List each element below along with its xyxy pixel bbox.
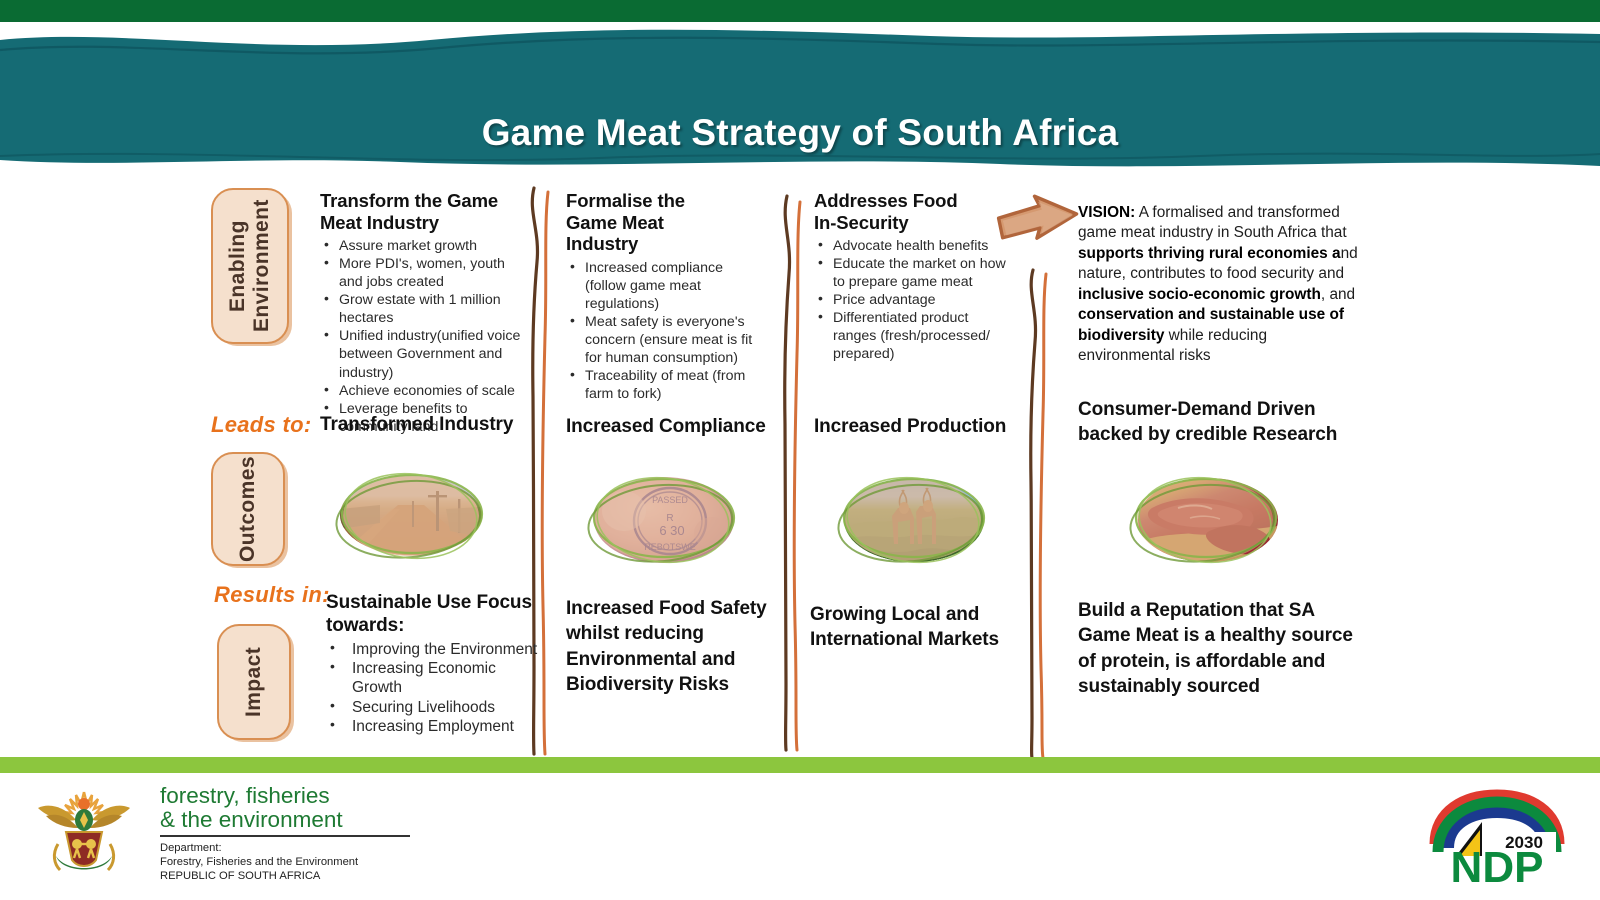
ndp-logo: 2030 NDP [1412,782,1582,886]
dffe-line1: forestry, fisheries [160,784,410,808]
row-label-outcomes: Outcomes [211,452,285,566]
row-label-enabling-environment: EnablingEnvironment [211,188,289,344]
column-food-security-impact: Growing Local and International Markets [810,602,1025,653]
column-formalise-heading: Formalise theGame MeatIndustry [566,190,766,255]
vision-statement: VISION: A formalised and transformed gam… [1078,203,1358,367]
vision-label: VISION: [1078,204,1135,221]
list-item: Improving the Environment [326,640,541,659]
divider-col3-col4 [1022,268,1056,760]
dffe-wordmark: forestry, fisheries & the environment De… [160,784,410,883]
row-label-outcomes-text: Outcomes [213,454,283,564]
column-transform-impact-heading: Sustainable Use Focus towards: [326,592,541,638]
footer-green-bar [0,757,1600,773]
vision-part-4: , and [1321,286,1355,303]
list-item: Advocate health benefits [814,237,1009,255]
column-food-security-outcome: Increased Production [814,416,1029,439]
column-formalise-impact: Increased Food Safety whilst reducing En… [566,596,786,697]
column-formalise-bullets: Increased compliance (follow game meat r… [566,259,766,403]
list-item: Traceability of meat (from farm to fork) [566,367,766,403]
column-formalise: Formalise theGame MeatIndustry Increased… [566,190,766,403]
dffe-country: REPUBLIC OF SOUTH AFRICA [160,869,410,883]
list-item: Increasing Employment [326,717,541,736]
column-food-security-bullets: Advocate health benefits Educate the mar… [814,237,1009,363]
list-item: More PDI's, women, youth and jobs create… [320,255,525,291]
row-label-impact: Impact [217,624,291,740]
column-transform: Transform the GameMeat Industry Assure m… [320,190,525,436]
list-item: Grow estate with 1 million hectares [320,291,525,327]
list-item: Differentiated product ranges (fresh/pro… [814,309,1009,363]
column-transform-impact-bullets: Improving the Environment Increasing Eco… [326,640,541,737]
dffe-department: Department: [160,841,410,855]
column-transform-heading: Transform the GameMeat Industry [320,190,525,233]
list-item: Unified industry(unified voice between G… [320,327,525,381]
vision-part-3: inclusive socio-economic growth [1078,286,1321,303]
kudu-antelope-photo [828,470,998,570]
row-label-enabling-environment-text: EnablingEnvironment [213,190,287,342]
column-vision-impact: Build a Reputation that SA Game Meat is … [1078,598,1363,699]
column-transform-outcome: Transformed Industry [320,414,535,437]
vision-part-1: supports thriving rural economies a [1078,245,1341,262]
dffe-department-full: Forestry, Fisheries and the Environment [160,855,410,869]
row-label-impact-text: Impact [219,626,289,738]
south-africa-coat-of-arms [32,782,136,878]
list-item: Educate the market on how to prepare gam… [814,255,1009,291]
list-item: Price advantage [814,291,1009,309]
list-item: Assure market growth [320,237,525,255]
connector-results-in: Results in: [214,582,330,608]
slide-root: Game Meat Strategy of South Africa Enabl… [0,0,1600,900]
dffe-logo: forestry, fisheries & the environment De… [32,780,432,880]
meat-inspection-stamp-photo: PASSED R 6 30 REBOTSWE [578,470,748,570]
dirt-road-photo [326,466,496,566]
ndp-acronym: NDP [1451,843,1544,886]
dffe-rule [160,835,410,837]
connector-leads-to: Leads to: [211,412,312,438]
column-transform-bullets: Assure market growth More PDI's, women, … [320,237,525,435]
list-item: Increasing Economic Growth [326,659,541,698]
column-food-security-heading: Addresses FoodIn-Security [814,190,1009,233]
dffe-line2: & the environment [160,808,410,832]
list-item: Achieve economies of scale [320,382,525,400]
list-item: Increased compliance (follow game meat r… [566,259,766,313]
raw-game-meat-photo [1120,470,1290,570]
top-green-bar [0,0,1600,22]
title-banner: Game Meat Strategy of South Africa [0,26,1600,174]
list-item: Securing Livelihoods [326,698,541,717]
column-vision-outcome: Consumer-Demand Driven backed by credibl… [1078,398,1363,447]
page-title: Game Meat Strategy of South Africa [0,112,1600,154]
column-transform-impact: Sustainable Use Focus towards: Improving… [326,592,541,736]
column-formalise-outcome: Increased Compliance [566,416,786,439]
list-item: Meat safety is everyone's concern (ensur… [566,313,766,367]
column-food-security: Addresses FoodIn-Security Advocate healt… [814,190,1009,364]
